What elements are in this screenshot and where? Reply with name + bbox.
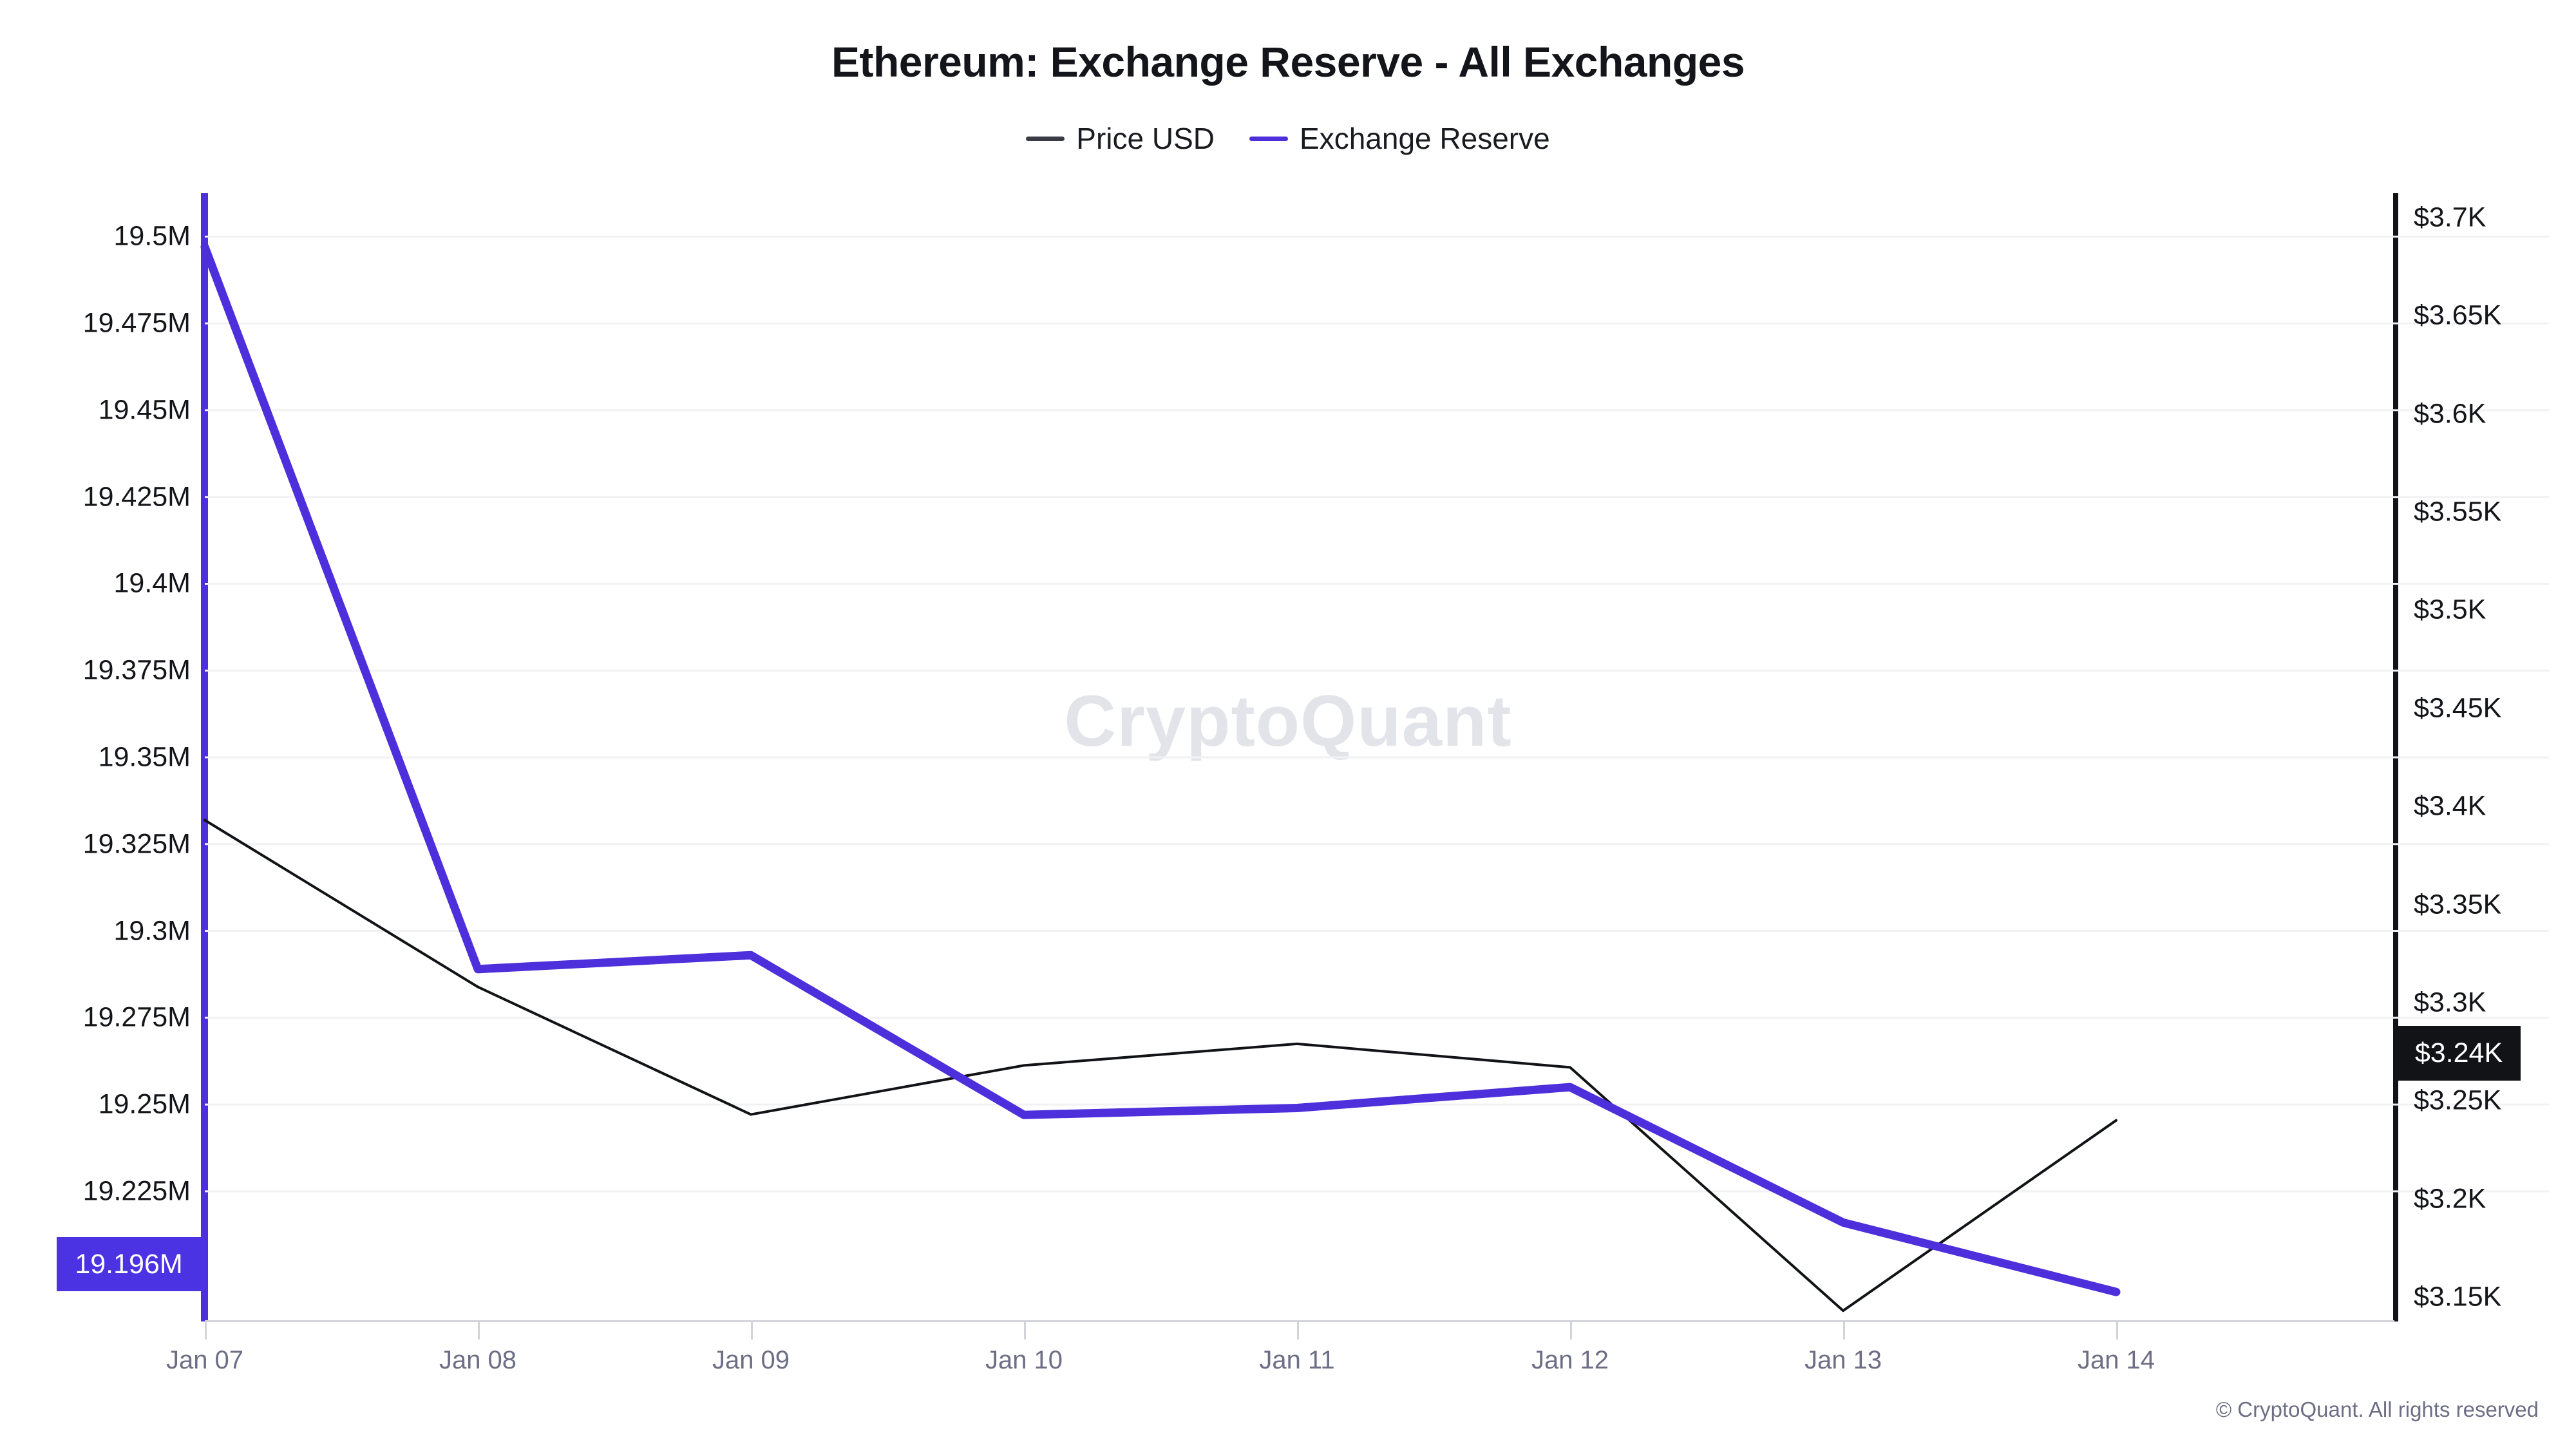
left-axis-tick: 19.425M — [83, 481, 191, 513]
x-axis-tick: Jan 07 — [166, 1346, 243, 1375]
x-axis-tick: Jan 08 — [439, 1346, 516, 1375]
page-title: Ethereum: Exchange Reserve - All Exchang… — [0, 37, 2576, 86]
left-axis-tick: 19.475M — [83, 308, 191, 339]
left-axis-tick: 19.225M — [83, 1175, 191, 1207]
legend-item-price-usd[interactable]: Price USD — [1026, 121, 1215, 156]
right-axis-tick: $3.25K — [2414, 1085, 2501, 1117]
x-axis-tick: Jan 12 — [1531, 1346, 1609, 1375]
x-axis-tick: Jan 11 — [1259, 1346, 1334, 1375]
legend-label-price-usd: Price USD — [1076, 121, 1215, 156]
right-axis-tick: $3.6K — [2414, 398, 2486, 430]
x-tick-mark — [205, 1321, 207, 1340]
legend-item-exchange-reserve[interactable]: Exchange Reserve — [1249, 121, 1550, 156]
price-usd-line — [205, 820, 2116, 1311]
left-axis-tick: 19.5M — [113, 221, 191, 252]
left-axis-tick: 19.275M — [83, 1002, 191, 1034]
reserve-value-badge: 19.196M — [57, 1237, 205, 1291]
chart-page: Ethereum: Exchange Reserve - All Exchang… — [0, 0, 2576, 1449]
legend-swatch-exchange-reserve — [1249, 137, 1288, 141]
x-tick-mark — [1024, 1321, 1026, 1340]
x-axis-tick: Jan 13 — [1804, 1346, 1882, 1375]
x-tick-mark — [2116, 1321, 2118, 1340]
right-axis-tick: $3.15K — [2414, 1281, 2501, 1312]
right-axis-tick: $3.55K — [2414, 497, 2501, 528]
x-tick-mark — [1570, 1321, 1572, 1340]
copyright-footer: © CryptoQuant. All rights reserved — [2216, 1397, 2539, 1422]
x-axis-tick: Jan 09 — [712, 1346, 790, 1375]
x-axis-tick: Jan 14 — [2078, 1346, 2155, 1375]
chart-legend: Price USD Exchange Reserve — [0, 121, 2576, 156]
right-axis-tick: $3.3K — [2414, 987, 2486, 1018]
exchange-reserve-line — [205, 247, 2116, 1293]
legend-swatch-price-usd — [1026, 137, 1065, 141]
right-axis-tick: $3.35K — [2414, 889, 2501, 920]
left-axis-tick: 19.3M — [113, 915, 191, 947]
x-axis-tick: Jan 10 — [985, 1346, 1063, 1375]
series-lines — [205, 193, 2549, 1321]
x-tick-mark — [751, 1321, 753, 1340]
legend-label-exchange-reserve: Exchange Reserve — [1300, 121, 1550, 156]
right-axis-tick: $3.2K — [2414, 1183, 2486, 1215]
left-axis-tick: 19.375M — [83, 655, 191, 687]
x-tick-mark — [1843, 1321, 1845, 1340]
right-axis-tick: $3.4K — [2414, 791, 2486, 822]
left-axis-tick: 19.45M — [99, 394, 191, 426]
price-value-badge: $3.24K — [2397, 1026, 2521, 1081]
right-axis-tick: $3.7K — [2414, 202, 2486, 234]
plot-area — [205, 193, 2549, 1321]
left-axis-tick: 19.325M — [83, 828, 191, 860]
left-axis-tick: 19.4M — [113, 568, 191, 600]
left-axis-tick: 19.35M — [99, 742, 191, 773]
right-axis-tick: $3.45K — [2414, 692, 2501, 724]
x-tick-mark — [478, 1321, 480, 1340]
right-axis-tick: $3.65K — [2414, 300, 2501, 332]
x-tick-mark — [1297, 1321, 1299, 1340]
left-axis-tick: 19.25M — [99, 1089, 191, 1121]
right-axis-tick: $3.5K — [2414, 594, 2486, 626]
